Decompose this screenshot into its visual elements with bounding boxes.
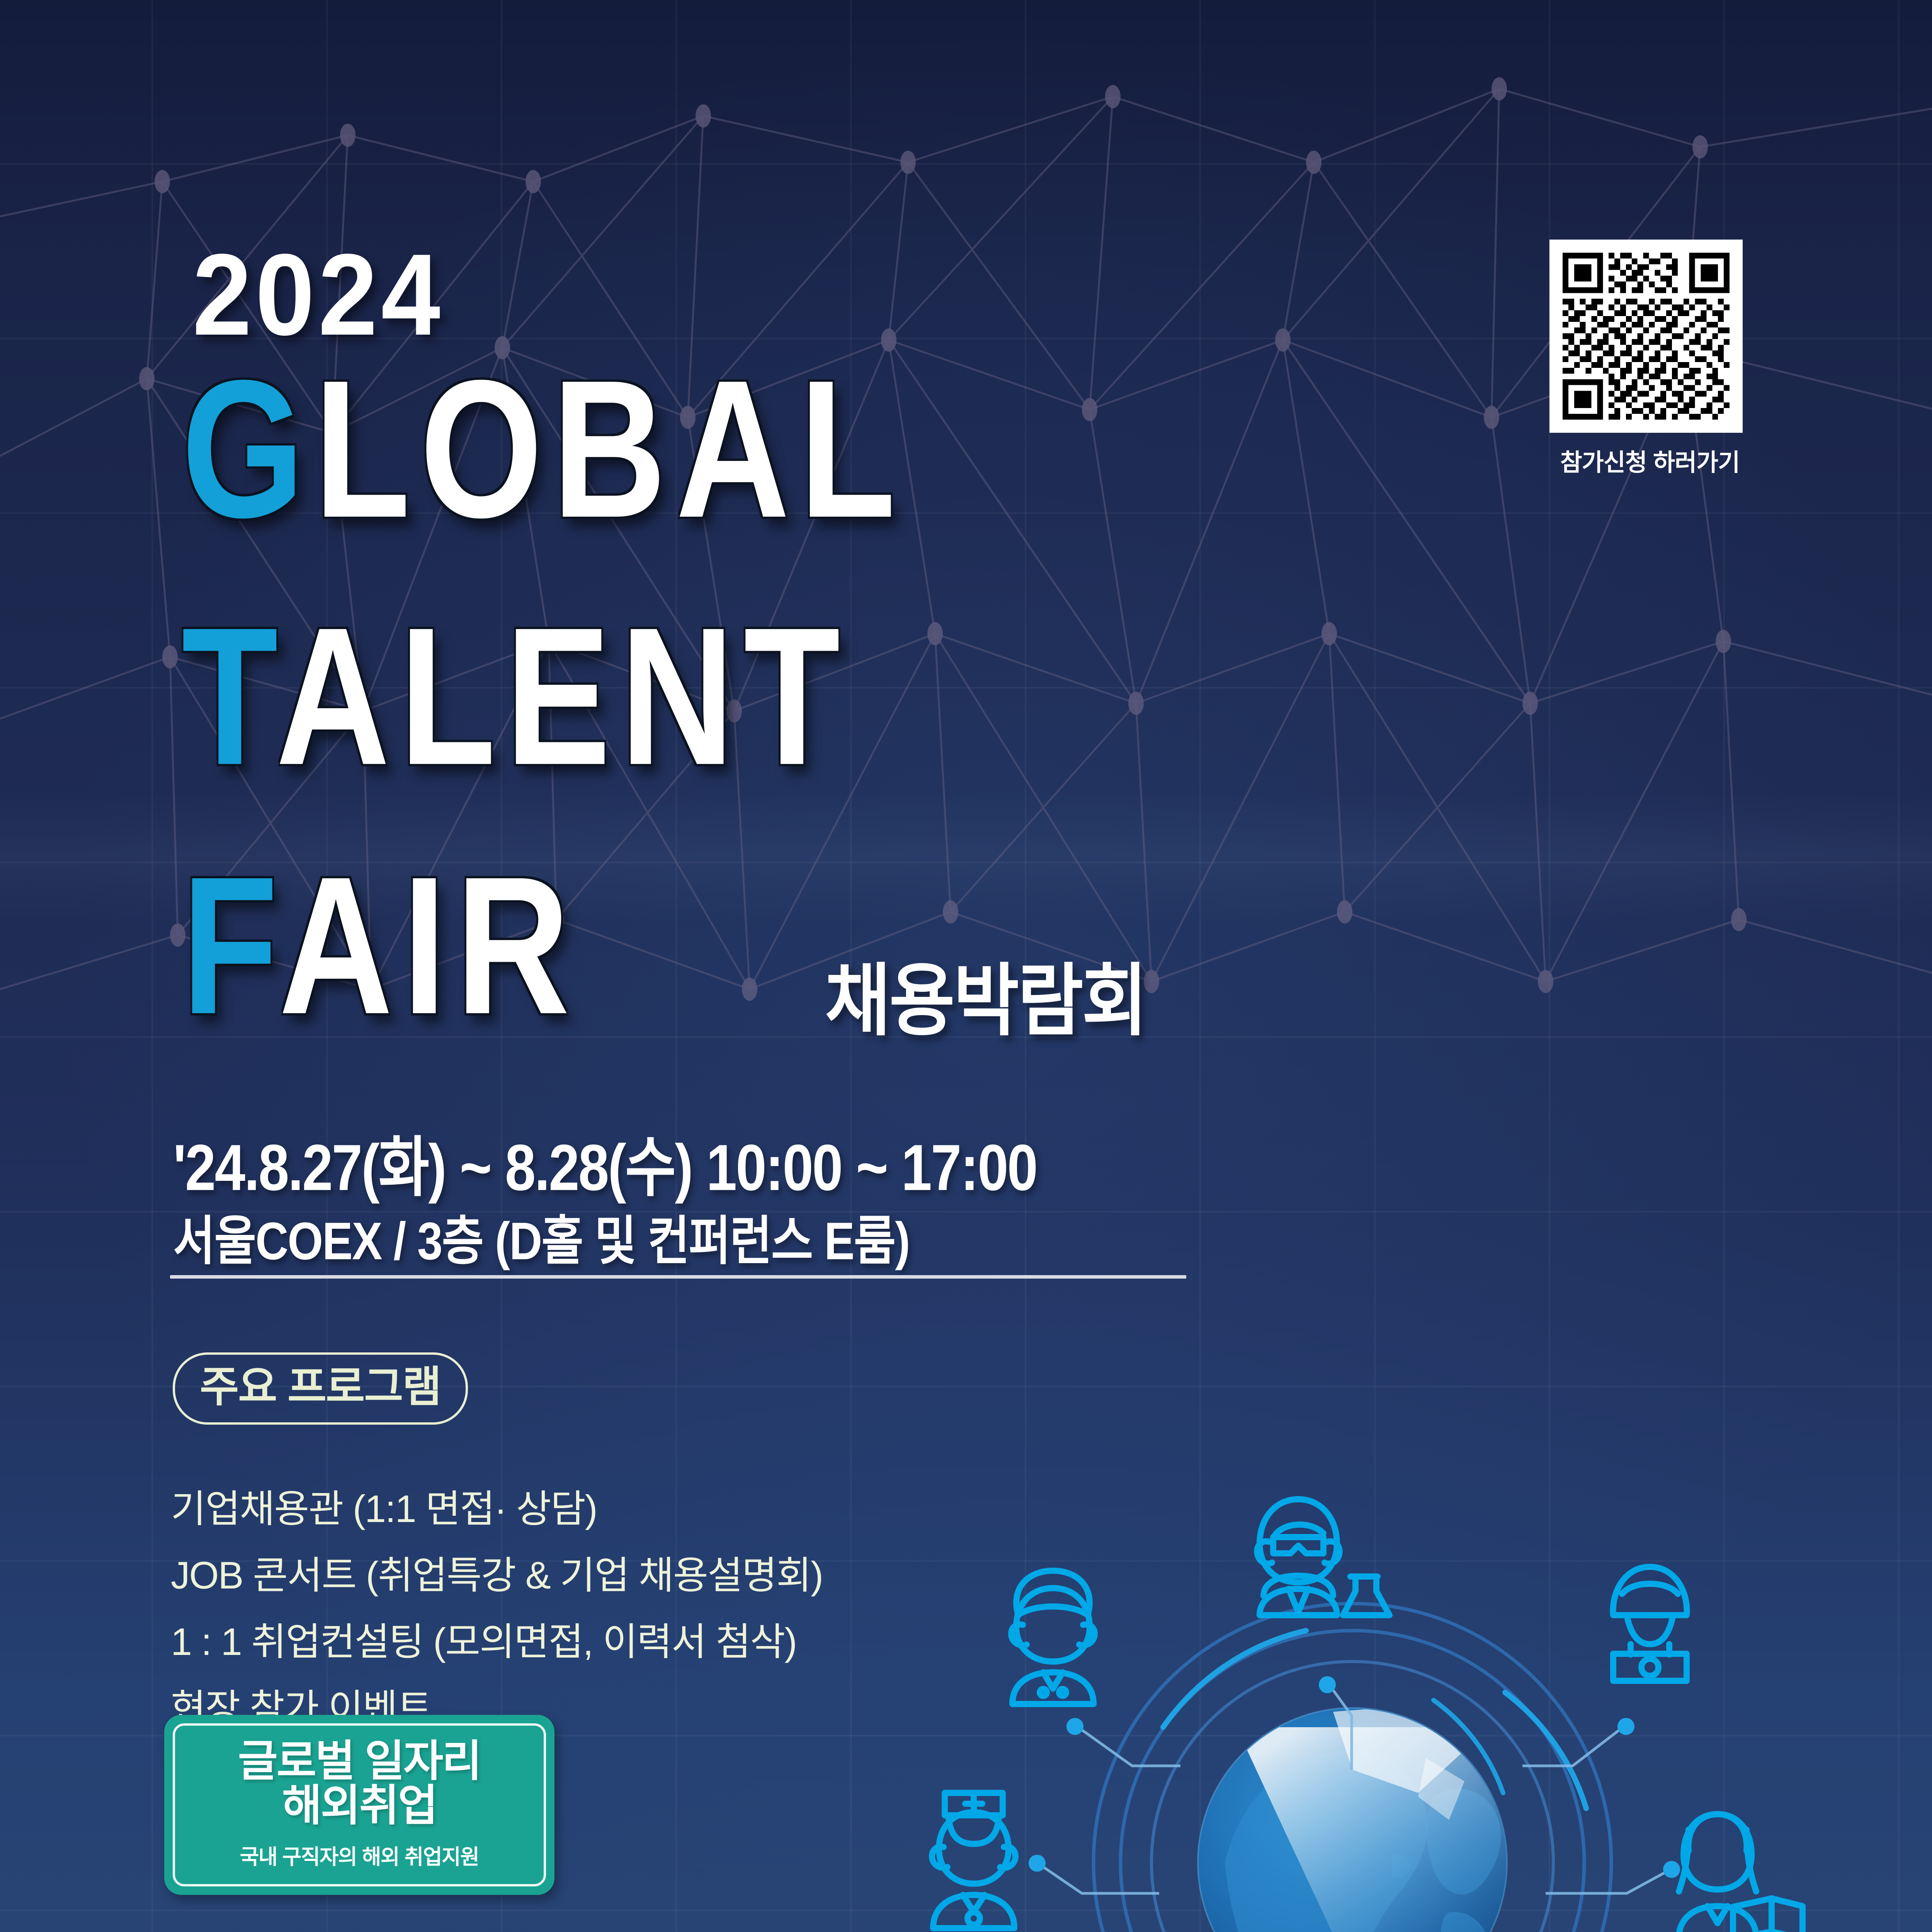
title-line-global: GLOBAL (182, 359, 905, 540)
globe-illustration (831, 1379, 1874, 1932)
poster-year: 2024 (192, 236, 444, 352)
track-title-line2: 해외취업 (179, 1783, 540, 1828)
track-title-line1: 글로벌 일자리 (179, 1739, 540, 1783)
track-subtitle: 국내 구직자의 해외 취업지원 (179, 1840, 540, 1870)
event-venue: 서울COEX / 3층 (D홀 및 컨퍼런스 E룸) (173, 1198, 910, 1274)
title-korean-suffix: 채용박람회 (825, 937, 1146, 1051)
track-title: 글로벌 일자리 해외취업 (179, 1739, 540, 1828)
qr-code-icon[interactable] (1549, 240, 1743, 433)
event-date: '24.8.27(화) ~ 8.28(수) 10:00 ~ 17:00 (173, 1115, 1037, 1209)
qr-caption: 참가신청 하러가기 (1549, 443, 1750, 478)
qr-block[interactable]: 참가신청 하러가기 (1549, 240, 1750, 478)
title-line-fair: FAIR (182, 856, 579, 1036)
poster-root: 참가신청 하러가기 2024 GLOBAL TALENT FAIR 채용박람회 … (0, 0, 1932, 1932)
title-line-talent: TALENT (182, 607, 850, 787)
track-card-inner: 글로벌 일자리 해외취업 국내 구직자의 해외 취업지원 (173, 1723, 546, 1886)
accent-letter-f: F (182, 836, 279, 1055)
track-card-global-jobs[interactable]: 글로벌 일자리 해외취업 국내 구직자의 해외 취업지원 (164, 1715, 554, 1895)
program-heading: 주요 프로그램 (173, 1352, 468, 1425)
accent-letter-t: T (182, 587, 276, 806)
accent-letter-g: G (182, 340, 314, 558)
section-divider (170, 1275, 1186, 1279)
